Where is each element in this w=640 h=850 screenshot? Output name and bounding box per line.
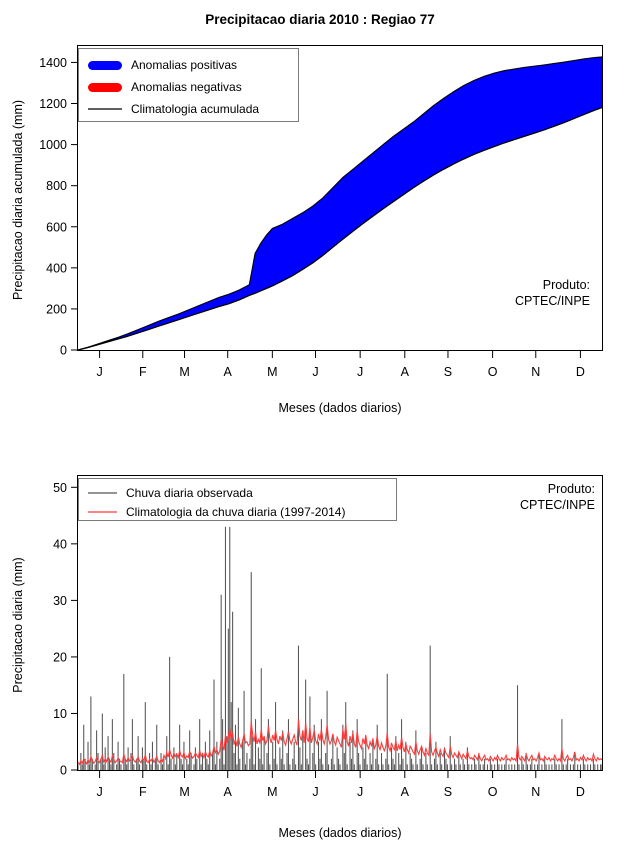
top-legend: Anomalias positivas Anomalias negativas …	[79, 49, 299, 122]
chart-page: Precipitacao diaria 2010 : Regiao 77 Pre…	[0, 0, 640, 850]
legend-label-negative-anomaly: Anomalias negativas	[131, 80, 242, 94]
top-produto-label: Produto:	[543, 278, 590, 292]
top-x-tick-label: A	[224, 365, 233, 379]
bottom-produto-value: CPTEC/INPE	[520, 498, 595, 512]
top-y-tick-label: 400	[46, 261, 67, 275]
top-x-tick-label: A	[401, 365, 410, 379]
top-x-tick-label: J	[357, 365, 363, 379]
legend-label-climatology: Climatologia acumulada	[131, 102, 259, 116]
bottom-y-tick-label: 10	[53, 707, 67, 721]
bottom-y-axis-label: Precipitacao diaria (mm)	[11, 557, 25, 692]
bottom-y-tick-label: 30	[53, 594, 67, 608]
top-y-tick-label: 600	[46, 220, 67, 234]
bottom-x-axis-label: Meses (dados diarios)	[279, 826, 402, 840]
bottom-y-tick-label: 20	[53, 650, 67, 664]
top-x-tick-label: M	[267, 365, 277, 379]
bottom-x-tick-label: J	[357, 785, 363, 799]
bottom-x-tick-group: JFMAMJJASOND	[96, 770, 584, 799]
bottom-legend: Chuva diaria observada Climatologia da c…	[79, 479, 397, 521]
legend-label-observed-rain: Chuva diaria observada	[126, 486, 253, 500]
accumulated-chart-svg: Precipitacao diaria 2010 : Regiao 77 Pre…	[0, 0, 640, 425]
top-x-tick-label: M	[179, 365, 189, 379]
top-y-tick-label: 1200	[39, 97, 67, 111]
top-y-tick-label: 800	[46, 179, 67, 193]
bottom-y-tick-group: 01020304050	[53, 481, 78, 778]
legend-label-positive-anomaly: Anomalias positivas	[131, 58, 237, 72]
top-x-tick-label: N	[531, 365, 540, 379]
bottom-x-tick-label: J	[312, 785, 318, 799]
top-y-tick-label: 1400	[39, 56, 67, 70]
top-x-tick-group: JFMAMJJASOND	[96, 350, 584, 379]
daily-chart-svg: Precipitacao diaria (mm) Meses (dados di…	[0, 425, 640, 850]
top-y-axis-label: Precipitacao diaria acumulada (mm)	[11, 100, 25, 300]
top-produto-value: CPTEC/INPE	[515, 294, 590, 308]
page-title: Precipitacao diaria 2010 : Regiao 77	[205, 12, 435, 27]
bottom-x-tick-label: N	[531, 785, 540, 799]
bottom-y-tick-label: 40	[53, 537, 67, 551]
bottom-y-tick-label: 0	[60, 764, 67, 778]
top-x-tick-label: J	[96, 365, 102, 379]
accumulated-precipitation-panel: Precipitacao diaria 2010 : Regiao 77 Pre…	[0, 0, 640, 425]
legend-label-daily-climatology: Climatologia da chuva diaria (1997-2014)	[126, 505, 345, 519]
bottom-x-tick-label: J	[96, 785, 102, 799]
daily-precipitation-panel: Precipitacao diaria (mm) Meses (dados di…	[0, 425, 640, 850]
top-x-tick-label: F	[139, 365, 147, 379]
top-x-axis-label: Meses (dados diarios)	[279, 401, 402, 415]
bottom-x-tick-label: S	[444, 785, 452, 799]
legend-swatch-positive-anomaly	[88, 61, 122, 70]
top-y-tick-group: 0200400600800100012001400	[39, 56, 78, 358]
daily-observed-bars	[78, 527, 602, 770]
top-y-tick-label: 1000	[39, 138, 67, 152]
bottom-y-tick-label: 50	[53, 481, 67, 495]
bottom-x-tick-label: M	[267, 785, 277, 799]
top-y-tick-label: 0	[60, 344, 67, 358]
top-x-tick-label: O	[488, 365, 498, 379]
top-x-tick-label: S	[444, 365, 452, 379]
bottom-x-tick-label: A	[224, 785, 233, 799]
top-y-tick-label: 200	[46, 302, 67, 316]
bottom-x-tick-label: O	[488, 785, 498, 799]
legend-swatch-negative-anomaly	[88, 83, 122, 92]
top-x-tick-label: D	[576, 365, 585, 379]
bottom-x-tick-label: A	[401, 785, 410, 799]
bottom-x-tick-label: D	[576, 785, 585, 799]
top-x-tick-label: J	[312, 365, 318, 379]
daily-bar-path	[78, 527, 602, 770]
bottom-produto-label: Produto:	[548, 482, 595, 496]
bottom-x-tick-label: M	[179, 785, 189, 799]
bottom-x-tick-label: F	[139, 785, 147, 799]
